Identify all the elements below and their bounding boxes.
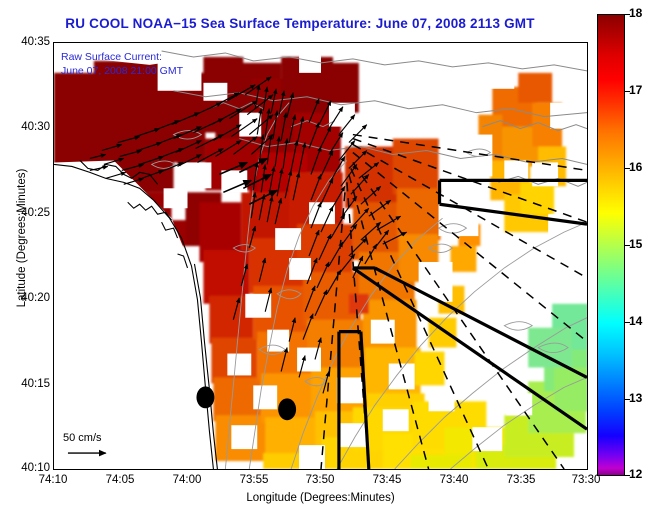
x-tick-0: 74:10: [23, 474, 83, 486]
colorbar[interactable]: [597, 14, 625, 476]
x-tick-6: 73:40: [424, 474, 484, 486]
y-tick-4: 40:15: [2, 378, 50, 390]
x-axis-title: Longitude (Degrees:Minutes): [53, 492, 588, 504]
cb-tick-17: 17: [629, 83, 642, 97]
plot-graphics: [54, 43, 587, 469]
plot-area[interactable]: Raw Surface Current: June 07, 2008 21:00…: [53, 42, 588, 470]
y-axis-title: Latitude (Degrees:Minutes): [16, 138, 28, 338]
x-tick-5: 73:45: [357, 474, 417, 486]
y-tick-0: 40:35: [2, 36, 50, 48]
x-tick-1: 74:05: [90, 474, 150, 486]
y-tick-1: 40:30: [2, 121, 50, 133]
cb-tick-14: 14: [629, 314, 642, 328]
x-tick-2: 74:00: [157, 474, 217, 486]
x-tick-4: 73:50: [290, 474, 350, 486]
cb-tick-18: 18: [629, 6, 642, 20]
scale-legend-label: 50 cm/s: [63, 432, 102, 444]
figure-title: RU COOL NOAA−15 Sea Surface Temperature:…: [0, 16, 600, 31]
x-tick-7: 73:35: [491, 474, 551, 486]
y-tick-5: 40:10: [2, 462, 50, 474]
figure-canvas: RU COOL NOAA−15 Sea Surface Temperature:…: [0, 0, 651, 519]
x-tick-3: 73:55: [224, 474, 284, 486]
cb-tick-12: 12: [629, 467, 642, 481]
cb-tick-15: 15: [629, 237, 642, 251]
cb-tick-13: 13: [629, 391, 642, 405]
cb-tick-16: 16: [629, 160, 642, 174]
